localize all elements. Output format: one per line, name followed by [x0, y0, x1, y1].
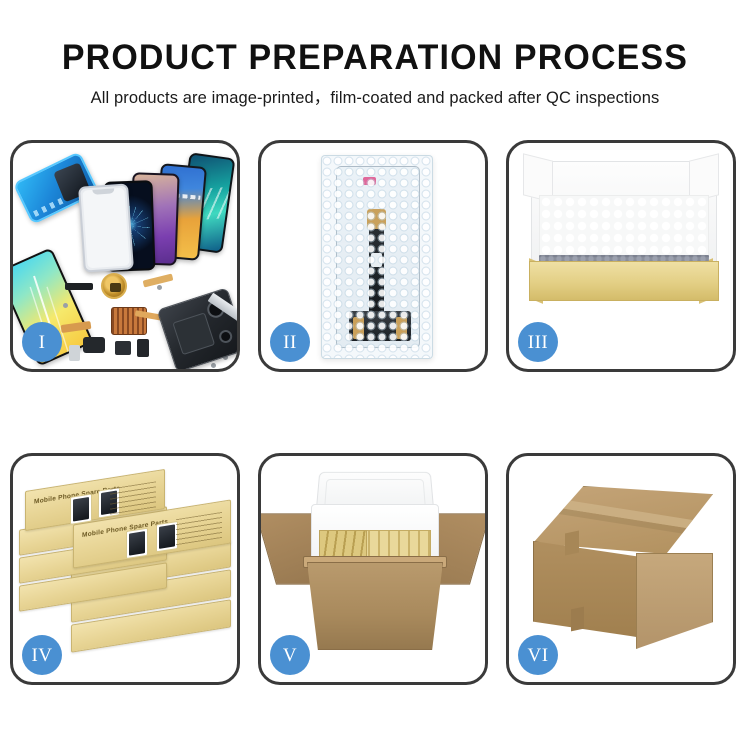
header: PRODUCT PREPARATION PROCESS All products…: [0, 0, 750, 128]
part-screw-2: [157, 285, 162, 290]
part-chip-small-1: [115, 341, 131, 355]
step-badge-2: II: [270, 322, 310, 362]
bubble-wrap-bag: [321, 155, 433, 359]
part-chip-bar: [65, 283, 93, 290]
carton-side-face: [636, 553, 713, 649]
box-product-photo-4: [156, 521, 178, 552]
carton-seam-bottom: [571, 607, 584, 632]
step-panel-3[interactable]: III: [506, 140, 736, 372]
part-screw-3: [211, 363, 216, 368]
box-product-photo-1: [70, 493, 92, 524]
phone-blank-white: [78, 183, 134, 272]
box-spec-lines-2: [176, 512, 222, 545]
step-badge-4: IV: [22, 635, 62, 675]
part-battery: [172, 312, 215, 355]
step-badge-6: VI: [518, 635, 558, 675]
step-panel-2[interactable]: II: [258, 140, 488, 372]
spare-parts-group: [61, 279, 237, 369]
part-speaker-module: [83, 337, 105, 353]
carton-front-face: [533, 541, 637, 637]
step-badge-1: I: [22, 322, 62, 362]
carton-sealing-tape: [533, 486, 713, 554]
carton-body: [307, 562, 443, 650]
bubble-texture: [322, 156, 432, 358]
box-product-photo-3: [126, 528, 148, 559]
step-badge-5: V: [270, 635, 310, 675]
page-subtitle: All products are image-printed，film-coat…: [0, 84, 750, 108]
step-panel-4[interactable]: Mobile Phone Spare Parts Mobile Phone Sp…: [10, 453, 240, 685]
process-steps-grid: I II: [10, 140, 740, 685]
part-phone-backplate: [157, 287, 237, 369]
step-panel-6[interactable]: VI: [506, 453, 736, 685]
page-title: PRODUCT PREPARATION PROCESS: [11, 38, 739, 78]
part-connector-white: [69, 345, 80, 361]
product-preparation-infographic: PRODUCT PREPARATION PROCESS All products…: [0, 0, 750, 750]
step-panel-1[interactable]: I: [10, 140, 240, 372]
part-camera-lens-2: [217, 328, 233, 344]
carton-seam-top: [565, 531, 579, 556]
step-badge-3: III: [518, 322, 558, 362]
part-flex-cable-1: [61, 321, 92, 333]
step-panel-5[interactable]: V: [258, 453, 488, 685]
part-screw-1: [63, 303, 68, 308]
part-chip-small-2: [137, 339, 149, 357]
kraft-tray-base: [529, 261, 719, 301]
part-speaker-coil-icon: [101, 273, 127, 299]
